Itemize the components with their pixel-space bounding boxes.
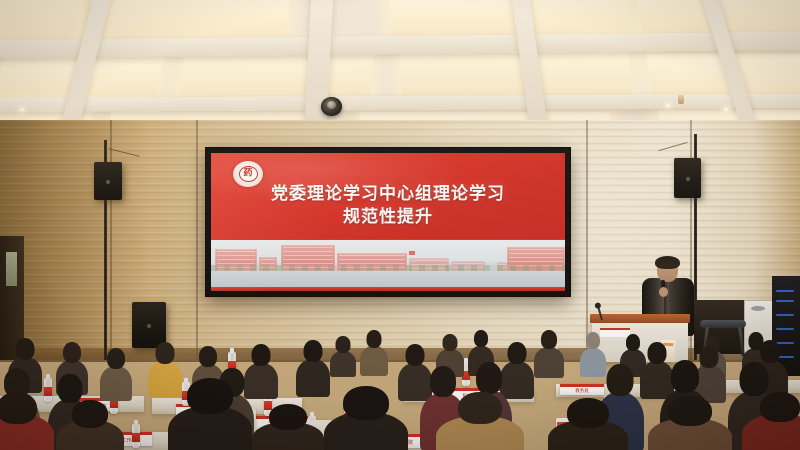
presenter-hand bbox=[659, 287, 668, 297]
projection-screen-frame: 药 党委理论学习中心组理论学习 规范性提升 bbox=[206, 148, 570, 296]
emblem-glyph: 药 bbox=[243, 170, 252, 179]
conference-hall-photo: 药 党委理论学习中心组理论学习 规范性提升 bbox=[0, 0, 800, 450]
audience-member bbox=[324, 386, 408, 450]
photo-flag bbox=[409, 251, 415, 255]
audience-member bbox=[330, 336, 356, 376]
banner-title: 党委理论学习中心组理论学习 规范性提升 bbox=[211, 183, 565, 229]
banner-title-line1: 党委理论学习中心组理论学习 bbox=[271, 184, 505, 204]
glasses-icon bbox=[658, 267, 677, 271]
audience-member bbox=[56, 400, 124, 450]
audience-member bbox=[252, 404, 324, 450]
audience-member bbox=[436, 392, 524, 450]
campus-panorama-photo bbox=[211, 240, 565, 287]
water-bottle bbox=[132, 424, 140, 448]
audience-member bbox=[100, 348, 132, 400]
dome-camera-icon bbox=[321, 97, 342, 116]
sprinkler-icon bbox=[678, 95, 684, 104]
audience-member bbox=[548, 398, 628, 450]
banner-title-line2: 规范性提升 bbox=[211, 206, 565, 229]
audience-member bbox=[0, 392, 54, 450]
lectern-top bbox=[590, 314, 690, 323]
audience-member bbox=[742, 392, 800, 450]
audience-member bbox=[360, 330, 388, 374]
projection-screen[interactable]: 药 党委理论学习中心组理论学习 规范性提升 bbox=[211, 153, 565, 291]
wall-speaker-left bbox=[94, 162, 122, 200]
photo-waterfront bbox=[211, 271, 565, 287]
audience-member bbox=[648, 396, 732, 450]
audience-member bbox=[168, 378, 252, 450]
audience-member bbox=[534, 330, 564, 376]
door-window bbox=[6, 252, 17, 286]
emblem-inner-ring: 药 bbox=[239, 166, 258, 182]
banner-bottom-stripe bbox=[211, 287, 565, 291]
wall-speaker-right bbox=[674, 158, 701, 198]
